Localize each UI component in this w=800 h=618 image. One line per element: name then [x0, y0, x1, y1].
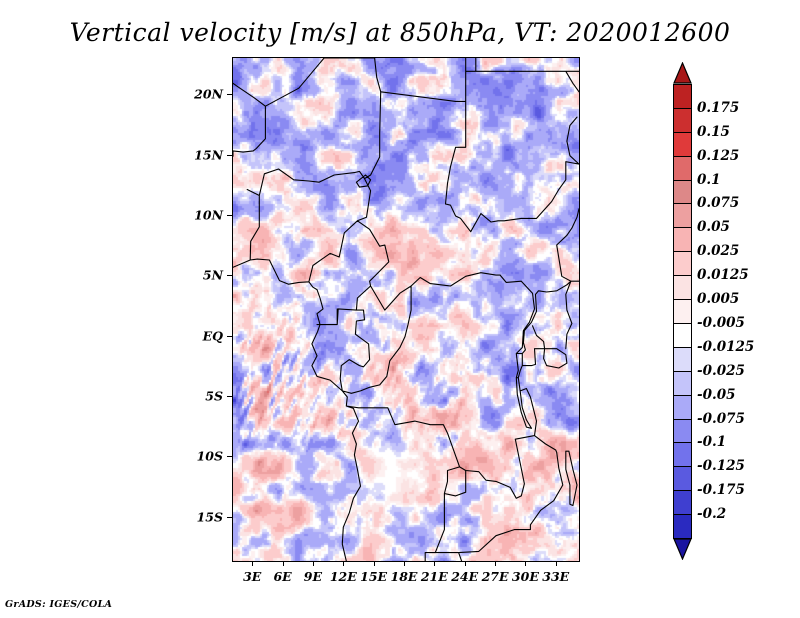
colorbar-swatch[interactable]: [673, 156, 692, 181]
x-tick-label: 9E: [304, 569, 322, 584]
x-tick-mark: [434, 561, 435, 566]
country-borders-overlay: [233, 58, 579, 561]
y-tick-label: 15S: [197, 509, 223, 524]
colorbar-swatch[interactable]: [673, 371, 692, 396]
colorbar-swatch[interactable]: [673, 395, 692, 420]
colorbar-swatch[interactable]: [673, 442, 692, 467]
colorbar-swatch[interactable]: [673, 275, 692, 300]
colorbar-tick-label: 0.025: [697, 243, 739, 259]
colorbar-tick-label: -0.2: [697, 506, 726, 522]
x-tick-label: 33E: [542, 569, 569, 584]
colorbar-tick-label: -0.005: [697, 315, 745, 331]
x-tick-label: 15E: [360, 569, 387, 584]
colorbar-swatch[interactable]: [673, 227, 692, 252]
colorbar-tick-label: -0.05: [697, 387, 735, 403]
credit-text: GrADS: IGES/COLA: [5, 599, 112, 610]
y-tick-mark: [227, 215, 232, 216]
x-tick-label: 24E: [451, 569, 478, 584]
y-tick-mark: [227, 396, 232, 397]
colorbar[interactable]: 0.1750.150.1250.10.0750.050.0250.01250.0…: [673, 62, 693, 560]
colorbar-tick-label: -0.0125: [697, 339, 754, 355]
colorbar-swatch[interactable]: [673, 108, 692, 133]
colorbar-swatch[interactable]: [673, 251, 692, 276]
grads-figure: Vertical velocity [m/s] at 850hPa, VT: 2…: [0, 0, 800, 618]
y-tick-mark: [227, 456, 232, 457]
y-tick-label: 10S: [197, 449, 223, 464]
colorbar-tick-label: -0.125: [697, 458, 745, 474]
triangle-down-icon: [673, 538, 692, 560]
y-tick-label: 5N: [203, 268, 223, 283]
colorbar-swatch[interactable]: [673, 299, 692, 324]
page-title: Vertical velocity [m/s] at 850hPa, VT: 2…: [0, 18, 800, 47]
x-tick-label: 12E: [330, 569, 357, 584]
colorbar-tick-label: 0.0125: [697, 267, 749, 283]
x-tick-label: 27E: [482, 569, 509, 584]
colorbar-tick-label: 0.125: [697, 148, 739, 164]
colorbar-swatch[interactable]: [673, 132, 692, 157]
colorbar-tick-label: 0.075: [697, 195, 739, 211]
x-tick-label: 18E: [391, 569, 418, 584]
y-tick-mark: [227, 94, 232, 95]
colorbar-swatch[interactable]: [673, 466, 692, 491]
colorbar-tick-label: -0.075: [697, 411, 745, 427]
colorbar-swatch[interactable]: [673, 514, 692, 539]
colorbar-swatch[interactable]: [673, 419, 692, 444]
colorbar-tick-label: -0.175: [697, 482, 745, 498]
x-tick-mark: [404, 561, 405, 566]
x-tick-mark: [283, 561, 284, 566]
colorbar-swatch[interactable]: [673, 180, 692, 205]
colorbar-swatch[interactable]: [673, 490, 692, 515]
y-tick-label: 5S: [205, 388, 223, 403]
map-plot-area[interactable]: [232, 57, 580, 562]
y-tick-mark: [227, 275, 232, 276]
colorbar-tick-label: -0.1: [697, 434, 726, 450]
y-tick-label: 15N: [194, 147, 223, 162]
colorbar-swatch[interactable]: [673, 347, 692, 372]
x-tick-mark: [465, 561, 466, 566]
x-tick-mark: [313, 561, 314, 566]
colorbar-tick-label: 0.05: [697, 219, 730, 235]
triangle-up-icon: [673, 62, 692, 84]
colorbar-tick-label: 0.175: [697, 100, 739, 116]
colorbar-tick-label: 0.005: [697, 291, 739, 307]
x-tick-mark: [252, 561, 253, 566]
colorbar-tick-label: -0.025: [697, 363, 745, 379]
x-tick-label: 3E: [243, 569, 261, 584]
colorbar-swatch[interactable]: [673, 84, 692, 109]
x-tick-mark: [374, 561, 375, 566]
x-tick-mark: [495, 561, 496, 566]
y-tick-mark: [227, 517, 232, 518]
x-tick-label: 30E: [512, 569, 539, 584]
x-tick-mark: [343, 561, 344, 566]
y-tick-label: EQ: [203, 328, 223, 343]
colorbar-swatch[interactable]: [673, 323, 692, 348]
colorbar-swatch[interactable]: [673, 203, 692, 228]
y-tick-mark: [227, 155, 232, 156]
y-tick-label: 10N: [194, 208, 223, 223]
y-tick-label: 20N: [194, 87, 223, 102]
x-tick-mark: [525, 561, 526, 566]
colorbar-tick-label: 0.1: [697, 172, 721, 188]
x-tick-label: 6E: [273, 569, 291, 584]
x-tick-label: 21E: [421, 569, 448, 584]
colorbar-tick-label: 0.15: [697, 124, 730, 140]
x-tick-mark: [556, 561, 557, 566]
y-tick-mark: [227, 336, 232, 337]
